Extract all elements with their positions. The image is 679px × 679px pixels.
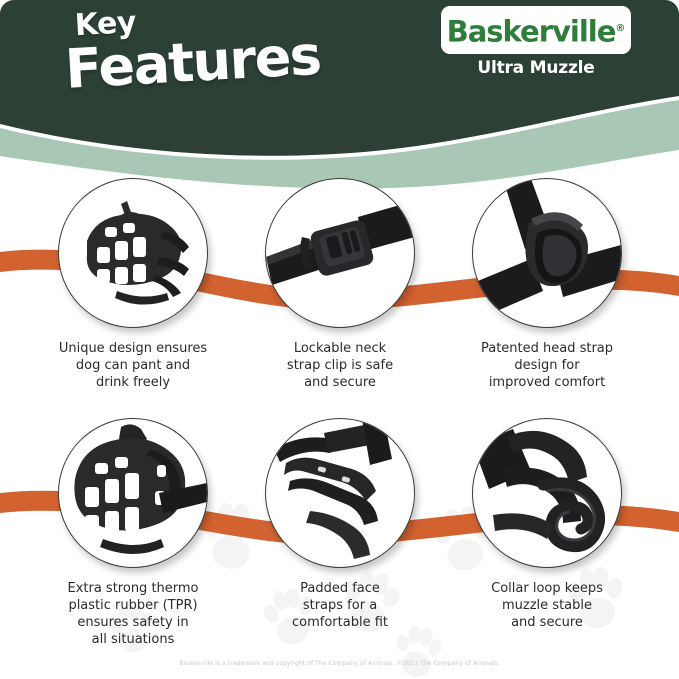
feature-cell-2: Lockable neck strap clip is safe and sec…: [227, 178, 453, 391]
caption-line: strap clip is safe: [227, 357, 453, 374]
caption-line: Collar loop keeps: [434, 580, 660, 597]
caption-line: and secure: [227, 374, 453, 391]
feature-caption-4: Extra strong thermo plastic rubber (TPR)…: [20, 580, 246, 648]
feature-image-5: [265, 418, 415, 568]
feature-image-4: [58, 418, 208, 568]
footer-legal: Baskerville is a trademark and copyright…: [0, 660, 679, 668]
caption-line: dog can pant and: [20, 357, 246, 374]
feature-caption-1: Unique design ensures dog can pant and d…: [20, 340, 246, 391]
feature-cell-1: Unique design ensures dog can pant and d…: [20, 178, 246, 391]
feature-cell-6: Collar loop keeps muzzle stable and secu…: [434, 418, 660, 631]
feature-cell-5: Padded face straps for a comfortable fit: [227, 418, 453, 631]
infographic-page: Key Features Baskerville® Ultra Muzzle: [0, 0, 679, 679]
caption-line: Unique design ensures: [20, 340, 246, 357]
caption-line: and secure: [434, 614, 660, 631]
caption-line: design for: [434, 357, 660, 374]
caption-line: Patented head strap: [434, 340, 660, 357]
feature-image-3: [472, 178, 622, 328]
caption-line: plastic rubber (TPR): [20, 597, 246, 614]
feature-caption-2: Lockable neck strap clip is safe and sec…: [227, 340, 453, 391]
feature-image-6: [472, 418, 622, 568]
caption-line: Padded face: [227, 580, 453, 597]
feature-caption-5: Padded face straps for a comfortable fit: [227, 580, 453, 631]
feature-grid: Unique design ensures dog can pant and d…: [0, 0, 679, 679]
caption-line: straps for a: [227, 597, 453, 614]
feature-image-1: [58, 178, 208, 328]
feature-cell-4: Extra strong thermo plastic rubber (TPR)…: [20, 418, 246, 648]
caption-line: ensures safety in: [20, 614, 246, 631]
caption-line: improved comfort: [434, 374, 660, 391]
feature-image-2: [265, 178, 415, 328]
feature-cell-3: Patented head strap design for improved …: [434, 178, 660, 391]
caption-line: muzzle stable: [434, 597, 660, 614]
feature-caption-6: Collar loop keeps muzzle stable and secu…: [434, 580, 660, 631]
caption-line: comfortable fit: [227, 614, 453, 631]
caption-line: drink freely: [20, 374, 246, 391]
feature-caption-3: Patented head strap design for improved …: [434, 340, 660, 391]
caption-line: all situations: [20, 631, 246, 648]
caption-line: Lockable neck: [227, 340, 453, 357]
caption-line: Extra strong thermo: [20, 580, 246, 597]
